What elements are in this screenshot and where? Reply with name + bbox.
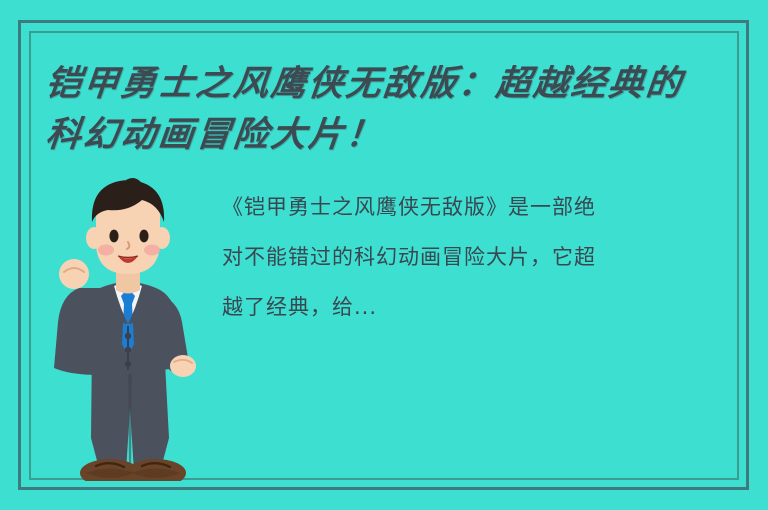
- title-line-2: 科幻动画冒险大片！: [43, 109, 748, 160]
- head-group: [86, 178, 170, 274]
- description-line-1: 《铠甲勇士之风鹰侠无敌版》是一部绝: [222, 182, 732, 232]
- title-line-1: 铠甲勇士之风鹰侠无敌版：超越经典的: [43, 58, 748, 109]
- businessman-illustration: [48, 176, 208, 481]
- shoes-group: [80, 459, 186, 481]
- poster-canvas: 铠甲勇士之风鹰侠无敌版：超越经典的 科幻动画冒险大片！ 《铠甲勇士之风鹰侠无敌版…: [0, 0, 768, 510]
- description-line-2: 对不能错过的科幻动画冒险大片，它超: [222, 232, 732, 282]
- poster-description: 《铠甲勇士之风鹰侠无敌版》是一部绝 对不能错过的科幻动画冒险大片，它超 越了经典…: [222, 182, 732, 332]
- poster-title: 铠甲勇士之风鹰侠无敌版：超越经典的 科幻动画冒险大片！: [46, 58, 746, 160]
- description-line-3: 越了经典，给...: [222, 282, 732, 332]
